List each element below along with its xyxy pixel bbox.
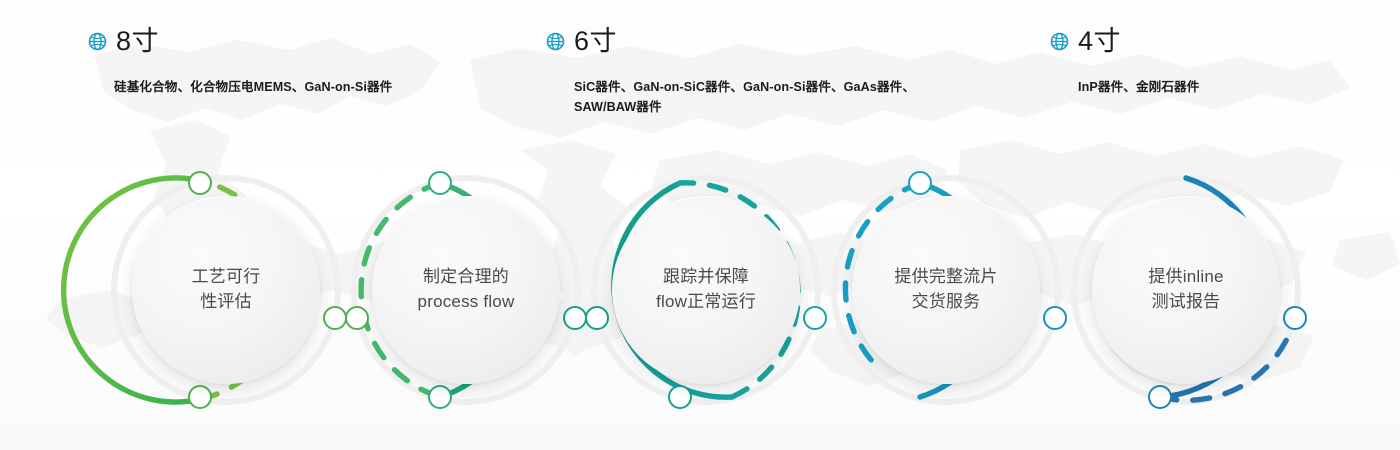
process-flow-rings: 工艺可行 性评估 制定合理的 process flow <box>0 160 1400 425</box>
wafer-size-description: InP器件、金刚石器件 <box>1078 78 1199 98</box>
wafer-size-title: 4寸 <box>1078 28 1121 55</box>
wafer-size-description: SiC器件、GaN-on-SiC器件、GaN-on-Si器件、GaAs器件、 S… <box>574 78 915 117</box>
process-step-disc: 提供inline 测试报告 <box>1092 196 1280 384</box>
wafer-size-title: 6寸 <box>574 28 617 55</box>
wafer-size-title: 8寸 <box>116 28 159 55</box>
process-step-disc: 制定合理的 process flow <box>372 196 560 384</box>
ring-node <box>1149 386 1171 408</box>
process-step-1[interactable]: 工艺可行 性评估 <box>96 160 356 420</box>
ring-node <box>586 307 608 329</box>
ring-node <box>669 386 691 408</box>
process-step-disc: 跟踪并保障 flow正常运行 <box>612 196 800 384</box>
process-step-label: 跟踪并保障 flow正常运行 <box>656 265 756 314</box>
infographic-stage: 8寸 硅基化合物、化合物压电MEMS、GaN-on-Si器件 6寸 SiC器件、… <box>0 0 1400 450</box>
wafer-size-title-row-6inch: 6寸 <box>546 24 915 58</box>
ring-node <box>346 307 368 329</box>
ring-node <box>909 172 931 194</box>
ring-node <box>429 386 451 408</box>
process-step-disc: 工艺可行 性评估 <box>132 196 320 384</box>
process-step-3[interactable]: 跟踪并保障 flow正常运行 <box>576 160 836 420</box>
wafer-size-description: 硅基化合物、化合物压电MEMS、GaN-on-Si器件 <box>114 78 392 98</box>
process-step-label: 提供inline 测试报告 <box>1148 265 1223 314</box>
globe-icon <box>88 32 107 51</box>
process-step-5[interactable]: 提供inline 测试报告 <box>1056 160 1316 420</box>
globe-icon <box>546 32 565 51</box>
process-step-4[interactable]: 提供完整流片 交货服务 <box>816 160 1076 420</box>
process-step-label: 提供完整流片 交货服务 <box>894 265 997 314</box>
process-step-label: 工艺可行 性评估 <box>192 265 261 314</box>
wafer-size-title-row-8inch: 8寸 <box>88 24 392 58</box>
wafer-size-group-6inch: 6寸 SiC器件、GaN-on-SiC器件、GaN-on-Si器件、GaAs器件… <box>546 24 915 117</box>
wafer-size-group-4inch: 4寸 InP器件、金刚石器件 <box>1050 24 1199 98</box>
process-step-label: 制定合理的 process flow <box>418 265 515 314</box>
ring-node <box>429 172 451 194</box>
ring-node <box>1284 307 1306 329</box>
ring-node <box>189 386 211 408</box>
wafer-size-group-8inch: 8寸 硅基化合物、化合物压电MEMS、GaN-on-Si器件 <box>88 24 392 98</box>
ring-node <box>189 172 211 194</box>
globe-icon <box>1050 32 1069 51</box>
wafer-size-title-row-4inch: 4寸 <box>1050 24 1199 58</box>
process-step-2[interactable]: 制定合理的 process flow <box>336 160 596 420</box>
process-step-disc: 提供完整流片 交货服务 <box>852 196 1040 384</box>
